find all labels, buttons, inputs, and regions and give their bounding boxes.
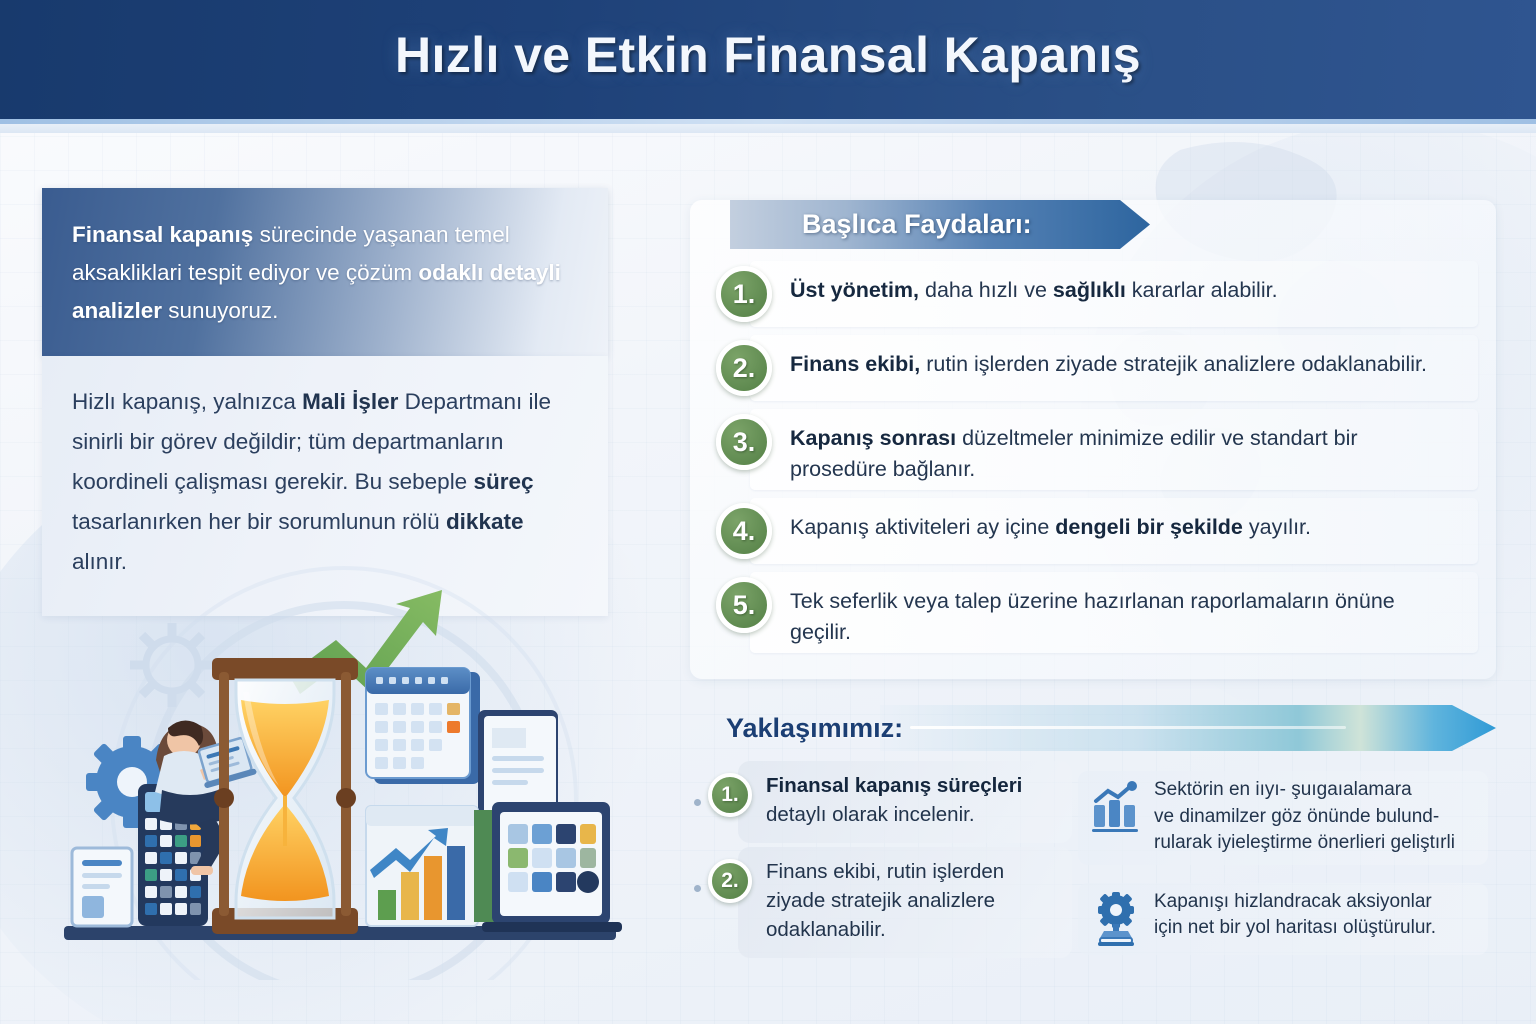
calendar-icon: [366, 668, 480, 784]
approach-number-badge: 1.: [708, 773, 752, 817]
benefit-mid: Tek seferlik veya talep üzerine hazırlan…: [790, 589, 1395, 644]
benefit-mid: rutin işlerden ziyade stratejik analizle…: [920, 352, 1427, 376]
benefits-heading-ribbon: Başlıca Faydaları:: [730, 200, 1150, 249]
intro-tail: sunuyoruz.: [162, 298, 278, 323]
point-line-2: ve dinamilzer göz önünde bulund-: [1154, 806, 1439, 827]
benefit-text: Üst yönetim, daha hızlı ve sağlıklı kara…: [790, 266, 1278, 306]
approach-heading-label: Yaklaşımımız:: [726, 713, 903, 744]
benefit-tail: kararlar alabilir.: [1126, 278, 1278, 302]
point-line-1: Kapanışı hizlandracak aksiyonlar: [1154, 891, 1432, 912]
approach-points-column: Sektörin en iıyı- şuıgaıalamara ve dinam…: [1078, 765, 1488, 973]
approach-step[interactable]: 2. Finans ekibi, rutin işlerden ziyade s…: [690, 851, 1072, 952]
point-line-1: Sektörin en iıyı- şuıgaıalamara: [1154, 779, 1412, 800]
approach-point[interactable]: Kapanışı hizlandracak aksiyonlar için ne…: [1078, 883, 1488, 955]
step-tail: Finans ekibi, rutin işlerden ziyade stra…: [766, 860, 1004, 941]
infographic-page: Hızlı ve Etkin Finansal Kapanış Finansal…: [0, 0, 1536, 1024]
point-line-2: için net bir yol haritası olüştürulur.: [1154, 917, 1436, 938]
step-bold: Finansal kapanış süreçleri: [766, 774, 1022, 797]
approach-point[interactable]: Sektörin en iıyı- şuıgaıalamara ve dinam…: [1078, 771, 1488, 865]
benefit-row[interactable]: 1. Üst yönetim, daha hızlı ve sağlıklı k…: [690, 257, 1496, 331]
point-line-3: rularak iyieleştirme önerlieri geliştırl…: [1154, 832, 1455, 853]
benefits-card: Başlıca Faydaları: 1. Üst yönetim, daha …: [690, 200, 1496, 679]
benefit-number-badge: 2.: [716, 340, 772, 396]
laptop-large-icon: [474, 802, 622, 932]
benefit-row[interactable]: 3. Kapanış sonrası düzeltmeler minimize …: [690, 405, 1496, 494]
benefit-bold2: sağlıklı: [1053, 278, 1126, 302]
approach-body: 1. Finansal kapanış süreçleri detaylı ol…: [690, 765, 1496, 973]
benefit-row[interactable]: 5. Tek seferlik veya talep üzerine hazır…: [690, 568, 1496, 657]
body-t1: Hizlı kapanış, yalnızca: [72, 389, 302, 414]
approach-point-text: Kapanışı hizlandracak aksiyonlar için ne…: [1154, 889, 1436, 942]
benefit-bold: Kapanış sonrası: [790, 426, 956, 450]
body-paragraph: Hizlı kapanış, yalnızca Mali İşler Depar…: [72, 382, 578, 582]
finance-illustration: [44, 560, 684, 980]
approach-heading-arrow: Yaklaşımımız:: [690, 699, 1496, 757]
body-b3: dikkate: [446, 509, 524, 534]
benefit-mid: Kapanış aktiviteleri ay içine: [790, 515, 1055, 539]
page-title: Hızlı ve Etkin Finansal Kapanış: [0, 26, 1536, 84]
right-column: Başlıca Faydaları: 1. Üst yönetim, daha …: [690, 186, 1496, 973]
gear-icon-outline: [130, 623, 214, 707]
benefit-number-badge: 4.: [716, 503, 772, 559]
step-dot: [694, 799, 701, 806]
page-header: Hızlı ve Etkin Finansal Kapanış: [0, 0, 1536, 119]
benefit-tail: yayılır.: [1243, 515, 1311, 539]
approach-step-text: Finans ekibi, rutin işlerden ziyade stra…: [766, 851, 1072, 952]
approach-step[interactable]: 1. Finansal kapanış süreçleri detaylı ol…: [690, 765, 1072, 837]
benefit-bold: Finans ekibi,: [790, 352, 920, 376]
body-b2: süreç: [473, 469, 533, 494]
benefit-bold: Üst yönetim,: [790, 278, 919, 302]
intro-paragraph: Finansal kapanış sürecinde yaşanan temel…: [72, 216, 578, 330]
approach-number-badge: 2.: [708, 859, 752, 903]
body-b1: Mali İşler: [302, 389, 398, 414]
approach-arrow-band: [880, 705, 1496, 751]
benefit-text: Kapanış sonrası düzeltmeler minimize edi…: [790, 414, 1430, 485]
step-dot: [694, 885, 701, 892]
benefit-number-badge: 1.: [716, 266, 772, 322]
approach-point-text: Sektörin en iıyı- şuıgaıalamara ve dinam…: [1154, 777, 1455, 857]
illustration-svg: [44, 560, 684, 980]
intro-bold-lead: Finansal kapanış: [72, 222, 253, 247]
bar-chart-growth-icon: [1088, 779, 1144, 835]
laptop-small-icon: [72, 848, 132, 926]
benefits-heading-label: Başlıca Faydaları:: [802, 209, 1032, 240]
benefit-number-badge: 5.: [716, 577, 772, 633]
header-divider-bottom: [0, 124, 1536, 133]
approach-steps-column: 1. Finansal kapanış süreçleri detaylı ol…: [690, 765, 1072, 973]
benefit-number-badge: 3.: [716, 414, 772, 470]
benefit-text: Finans ekibi, rutin işlerden ziyade stra…: [790, 340, 1427, 380]
approach-section: Yaklaşımımız: 1. Finansal kapanış süreçl…: [690, 699, 1496, 973]
left-column: Finansal kapanış sürecinde yaşanan temel…: [42, 188, 608, 616]
benefit-row[interactable]: 2. Finans ekibi, rutin işlerden ziyade s…: [690, 331, 1496, 405]
body-t3: tasarlanırken her bir sorumlunun rölü: [72, 509, 446, 534]
benefit-text: Kapanış aktiviteleri ay içine dengeli bi…: [790, 503, 1311, 543]
gear-stamp-icon: [1088, 891, 1144, 947]
benefit-bold2: dengeli bir şekilde: [1055, 515, 1243, 539]
benefit-row[interactable]: 4. Kapanış aktiviteleri ay içine dengeli…: [690, 494, 1496, 568]
hourglass-icon: [212, 658, 358, 934]
benefit-mid: daha hızlı ve: [919, 278, 1053, 302]
intro-highlight-box: Finansal kapanış sürecinde yaşanan temel…: [42, 188, 608, 356]
approach-step-text: Finansal kapanış süreçleri detaylı olara…: [766, 765, 1072, 837]
bar-chart-card: [366, 806, 478, 926]
benefit-text: Tek seferlik veya talep üzerine hazırlan…: [790, 577, 1430, 648]
step-tail: detaylı olarak incelenir.: [766, 803, 975, 826]
